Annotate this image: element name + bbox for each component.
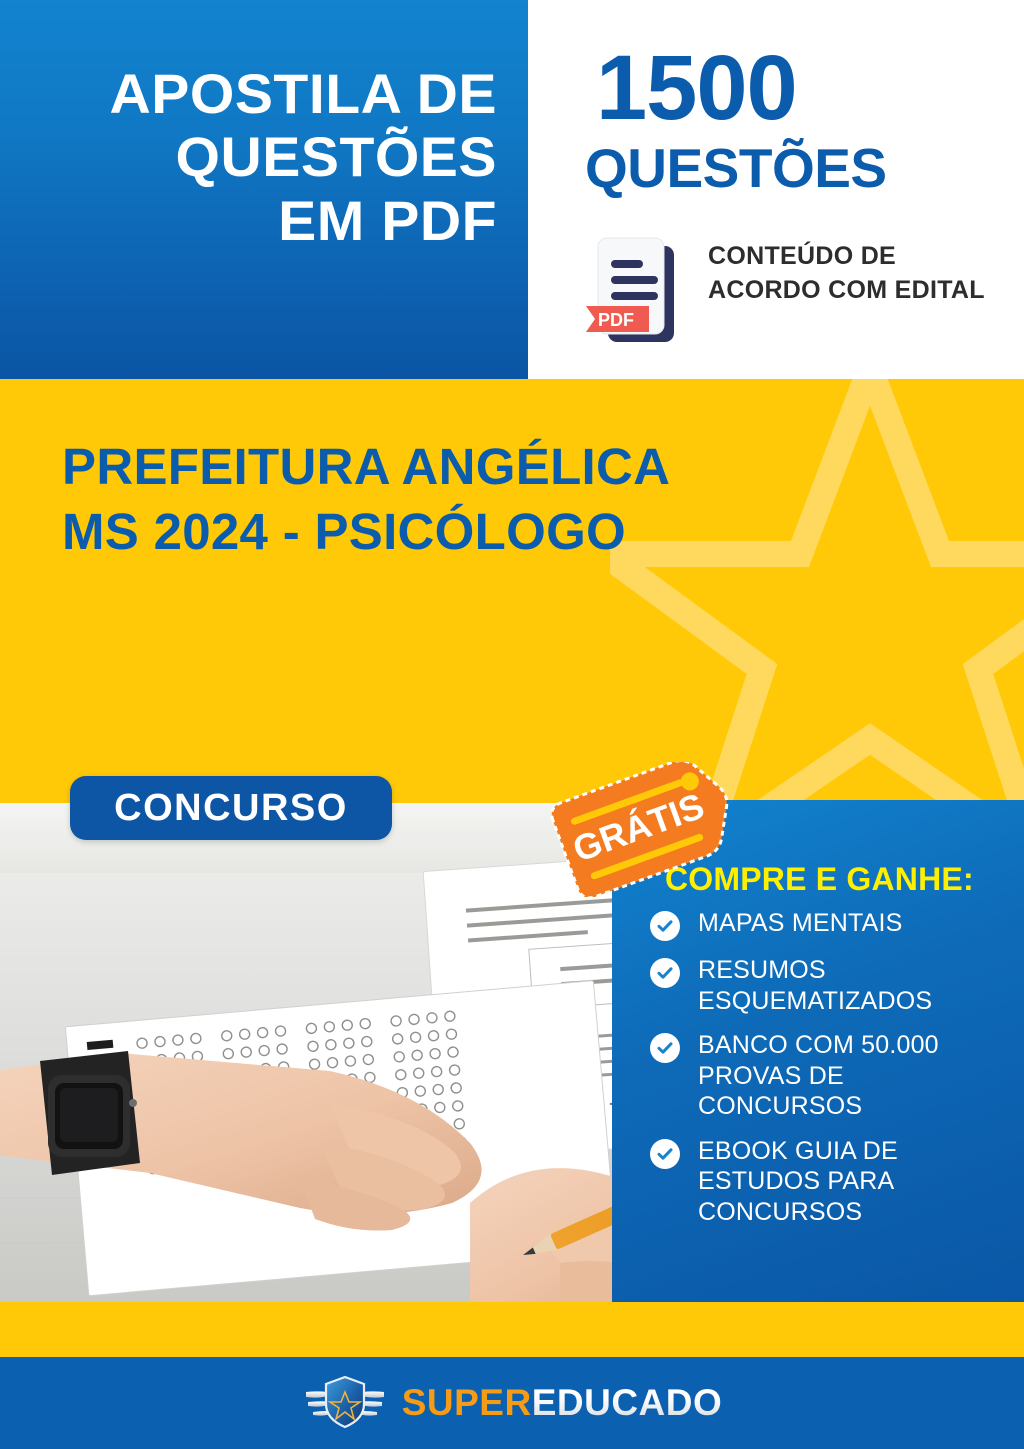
list-item: EBOOK GUIA DE ESTUDOS PARA CONCURSOS <box>650 1136 1020 1228</box>
poster-root: APOSTILA DE QUESTÕES EM PDF 1500 QUESTÕE… <box>0 0 1024 1449</box>
benefit-label: EBOOK GUIA DE ESTUDOS PARA CONCURSOS <box>698 1136 1008 1228</box>
check-circle-icon <box>650 1033 680 1063</box>
header-headline: APOSTILA DE QUESTÕES EM PDF <box>48 62 497 252</box>
check-circle-icon <box>650 911 680 941</box>
brand-wordmark: SUPEREDUCADO <box>402 1382 723 1424</box>
headline-line-1: APOSTILA DE <box>48 62 497 125</box>
gratis-tag[interactable]: GRÁTIS <box>543 762 733 897</box>
title-band: PREFEITURA ANGÉLICA MS 2024 - PSICÓLOGO <box>0 379 1024 803</box>
shield-wings-logo-icon <box>302 1372 388 1435</box>
header-blue-panel: APOSTILA DE QUESTÕES EM PDF <box>0 0 528 379</box>
benefits-list: MAPAS MENTAIS RESUMOS ESQUEMATIZADOS BAN… <box>650 908 1020 1241</box>
header-white-panel: 1500 QUESTÕES PDF <box>528 0 1024 379</box>
check-circle-icon <box>650 958 680 988</box>
benefit-label: RESUMOS ESQUEMATIZADOS <box>698 955 1008 1016</box>
page-title-line-1: PREFEITURA ANGÉLICA <box>62 434 962 499</box>
brand-footer: SUPEREDUCADO <box>0 1357 1024 1449</box>
list-item: BANCO COM 50.000 PROVAS DE CONCURSOS <box>650 1030 1020 1122</box>
brand-super: SUPER <box>402 1382 532 1423</box>
page-title-line-2: MS 2024 - PSICÓLOGO <box>62 499 962 564</box>
brand-educado: EDUCADO <box>532 1382 723 1423</box>
concurso-badge[interactable]: CONCURSO <box>70 776 392 840</box>
benefit-label: MAPAS MENTAIS <box>698 908 902 939</box>
edital-note: CONTEÚDO DE ACORDO COM EDITAL <box>708 240 1008 308</box>
pdf-badge-text: PDF <box>598 310 634 330</box>
list-item: RESUMOS ESQUEMATIZADOS <box>650 955 1020 1016</box>
benefit-label: BANCO COM 50.000 PROVAS DE CONCURSOS <box>698 1030 1008 1122</box>
page-title: PREFEITURA ANGÉLICA MS 2024 - PSICÓLOGO <box>62 434 962 565</box>
yellow-divider-strip <box>0 1302 1024 1357</box>
headline-line-3: EM PDF <box>48 189 497 252</box>
question-count-number: 1500 <box>596 42 797 134</box>
pdf-file-icon: PDF <box>586 232 682 346</box>
header-band: APOSTILA DE QUESTÕES EM PDF 1500 QUESTÕE… <box>0 0 1024 379</box>
headline-line-2: QUESTÕES <box>48 125 497 188</box>
check-circle-icon <box>650 1139 680 1169</box>
list-item: MAPAS MENTAIS <box>650 908 1020 941</box>
question-count-label: QUESTÕES <box>585 141 887 196</box>
